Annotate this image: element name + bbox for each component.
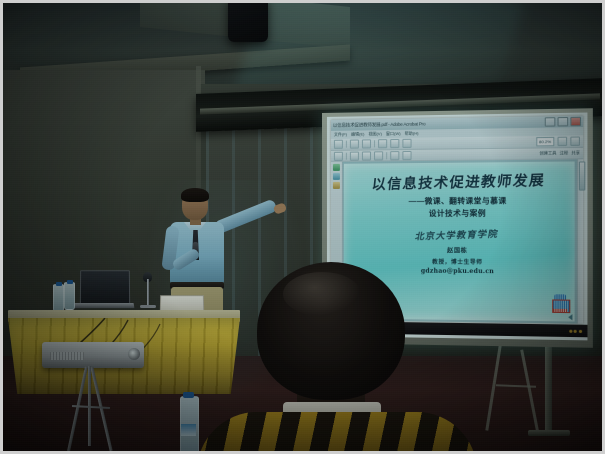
laptop-screen <box>80 270 130 306</box>
sticky-note-icon[interactable] <box>402 150 411 159</box>
zoom-out-icon[interactable] <box>362 151 371 160</box>
menu-item-window[interactable]: 窗口(W) <box>386 131 401 137</box>
screen-stand-pole <box>545 345 552 435</box>
bookmarks-icon[interactable] <box>333 173 340 180</box>
fullscreen-icon[interactable] <box>570 137 580 146</box>
menu-item-edit[interactable]: 编辑(E) <box>351 131 364 137</box>
zoom-level-field[interactable]: 80.2% <box>536 137 554 147</box>
laptop-keyboard <box>74 303 135 308</box>
task-panel-buttons: 创建工具 注释 共享 <box>539 150 580 157</box>
previous-page-icon[interactable] <box>334 151 343 160</box>
seal-stamp-icon <box>552 294 568 313</box>
foreground-bottle-cap <box>183 392 194 398</box>
menu-item-help[interactable]: 帮助(H) <box>405 131 419 137</box>
tray-indicator-1[interactable] <box>569 329 572 332</box>
zoom-in-icon[interactable] <box>374 151 383 160</box>
water-bottle <box>53 284 64 312</box>
photograph: 以信息技术促进教师发展.pdf - Adobe Acrobat Pro 文件(F… <box>0 0 605 454</box>
tray-indicator-2[interactable] <box>574 329 577 332</box>
bottle-cap <box>67 280 73 284</box>
window-controls <box>545 117 581 127</box>
print-icon[interactable] <box>362 139 371 148</box>
toolbar-separator <box>386 152 387 159</box>
projector-tripod <box>48 366 144 452</box>
email-icon[interactable] <box>378 139 387 148</box>
slide-presenter-name: 赵国栋 <box>447 245 467 254</box>
window-title-text: 以信息技术促进教师发展.pdf - Adobe Acrobat Pro <box>333 121 425 129</box>
seal-band <box>553 309 567 312</box>
primary-toolbar-right: 80.2% <box>536 137 580 147</box>
projector-vent <box>50 352 84 360</box>
page-thumbnails-icon[interactable] <box>333 164 340 171</box>
save-icon[interactable] <box>350 140 359 149</box>
slide-title: 以信息技术促进教师发展 <box>371 170 546 195</box>
maximize-button[interactable] <box>558 117 569 127</box>
vertical-scrollbar[interactable] <box>577 159 583 323</box>
menu-item-file[interactable]: 文件(F) <box>334 132 347 138</box>
tray-indicator-3[interactable] <box>578 329 581 332</box>
bottle-cap <box>56 282 62 286</box>
ceiling-speaker <box>228 0 268 42</box>
attachments-icon[interactable] <box>333 182 340 189</box>
task-panel-share[interactable]: 共享 <box>571 150 580 156</box>
close-button[interactable] <box>570 117 581 127</box>
slide-subtitle-line1: ——微课、翻转课堂与慕课 <box>409 195 507 207</box>
highlight-icon[interactable] <box>390 151 399 160</box>
task-panel-comment[interactable]: 注释 <box>560 150 569 156</box>
presenter-hair <box>181 188 209 202</box>
desk-microphone-stand <box>147 279 149 307</box>
projector-lens <box>128 348 140 360</box>
task-panel-create[interactable]: 创建工具 <box>539 150 556 156</box>
next-page-icon[interactable] <box>350 151 359 160</box>
audience-shirt-shading <box>197 412 477 454</box>
slide-subtitle-line2: 设计技术与案例 <box>429 207 486 218</box>
foreground-bottle-label <box>181 424 196 436</box>
water-bottle <box>64 282 75 310</box>
secondary-toolbar-left <box>334 150 412 160</box>
scrollbar-thumb[interactable] <box>578 161 584 190</box>
minimize-button[interactable] <box>545 117 556 126</box>
pointer-cursor-icon <box>568 314 572 320</box>
slide-organization: 北京大学教育学院 <box>415 227 501 243</box>
primary-toolbar-left <box>334 139 412 149</box>
audience-hair-highlight <box>283 272 361 316</box>
snapshot-icon[interactable] <box>402 139 411 148</box>
audience-member <box>205 262 470 454</box>
menu-item-view[interactable]: 视图(V) <box>368 131 381 137</box>
select-tool-icon[interactable] <box>390 139 399 148</box>
desk-microphone-base <box>140 305 156 308</box>
toolbar-separator <box>374 140 375 147</box>
toolbar-separator <box>346 141 347 148</box>
system-tray[interactable] <box>569 329 586 332</box>
chevron-down-icon[interactable] <box>558 137 568 146</box>
open-file-icon[interactable] <box>334 140 343 149</box>
screen-stand-foot <box>528 430 570 436</box>
toolbar-separator <box>346 152 347 159</box>
